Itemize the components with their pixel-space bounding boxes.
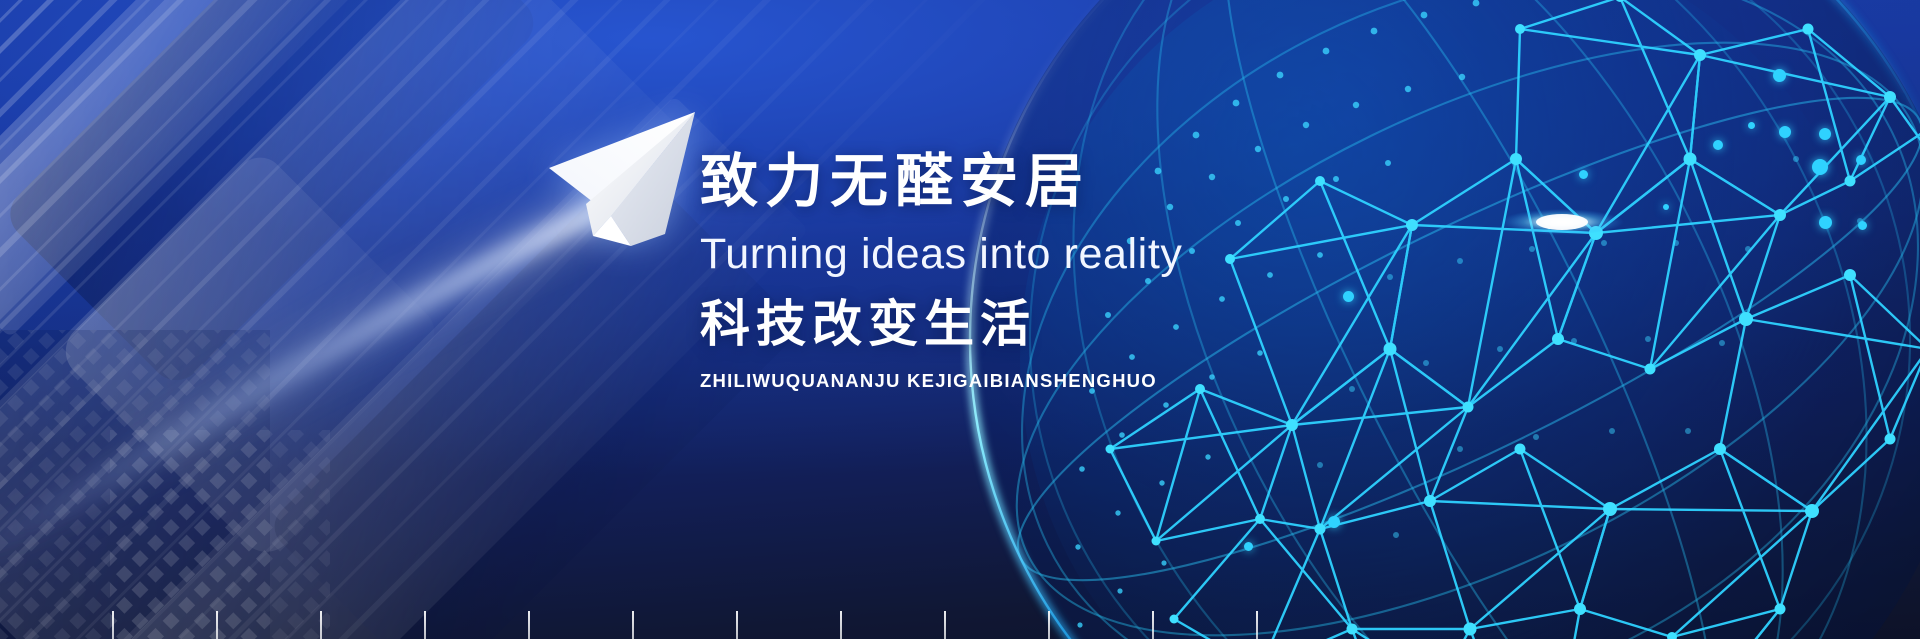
tick-mark: [1048, 611, 1050, 639]
particle-dot: [1819, 128, 1831, 140]
headline-cn: 致力无醛安居: [700, 150, 1460, 215]
particle-dot: [1663, 204, 1669, 210]
hero-banner: 致力无醛安居 Turning ideas into reality 科技改变生活…: [0, 0, 1920, 639]
pinyin-line: ZHILIWUQUANANJU KEJIGAIBIANSHENGHUO: [700, 370, 1460, 392]
tick-mark: [216, 611, 218, 639]
globe-limb-flare: [1497, 196, 1627, 248]
particle-dot: [1713, 140, 1723, 150]
particle-dot: [1856, 155, 1866, 165]
hero-copy: 致力无醛安居 Turning ideas into reality 科技改变生活…: [700, 150, 1460, 392]
tick-mark: [320, 611, 322, 639]
tick-mark: [528, 611, 530, 639]
light-trail-streak: [0, 150, 780, 590]
diamond-dot-matrix: [0, 330, 270, 639]
particle-dot: [1579, 170, 1588, 179]
subhead-cn: 科技改变生活: [700, 296, 1460, 352]
particle-dot: [1244, 542, 1253, 551]
particle-dot: [1819, 216, 1832, 229]
tagline-en: Turning ideas into reality: [700, 231, 1460, 278]
tick-mark: [632, 611, 634, 639]
particle-dot: [1773, 69, 1786, 82]
tick-mark: [1152, 611, 1154, 639]
particle-dot: [1812, 159, 1828, 175]
bottom-tick-marks: [0, 599, 1920, 639]
particle-dot: [1328, 516, 1340, 528]
particle-dot: [1858, 221, 1867, 230]
particle-dot: [1748, 122, 1755, 129]
particle-dot: [1779, 126, 1791, 138]
tick-mark: [736, 611, 738, 639]
tick-mark: [840, 611, 842, 639]
tick-mark: [424, 611, 426, 639]
tick-mark: [944, 611, 946, 639]
paper-plane-icon: [543, 108, 703, 250]
tick-mark: [1256, 611, 1258, 639]
tick-mark: [112, 611, 114, 639]
